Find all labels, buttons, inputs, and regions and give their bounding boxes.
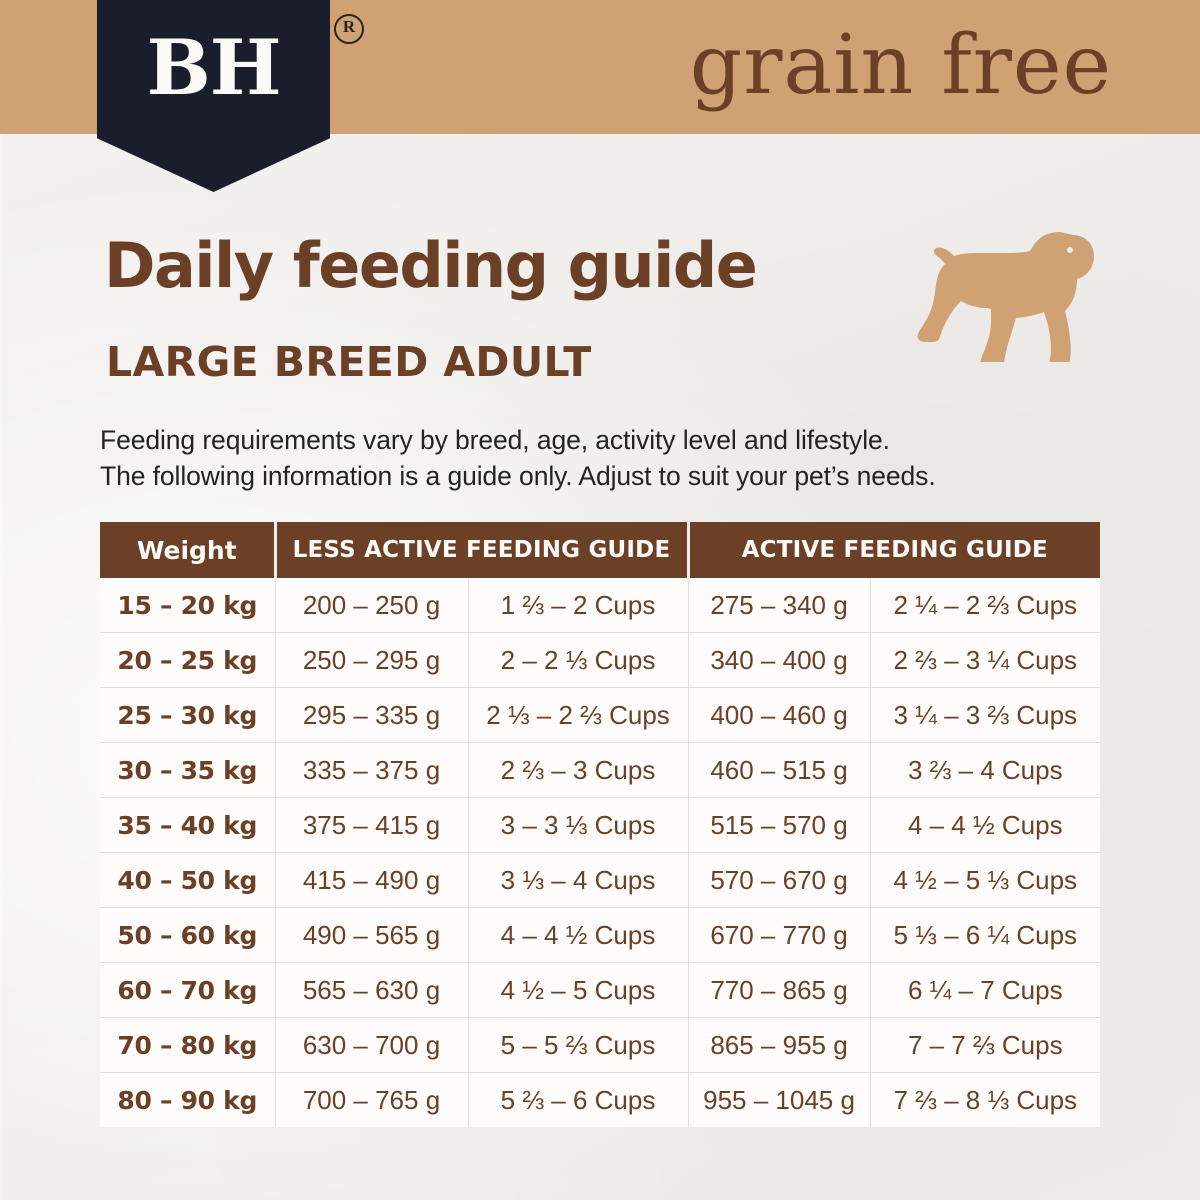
cell-active-grams: 670 – 770 g [688, 908, 870, 963]
registered-trademark-icon: R [334, 14, 364, 44]
table-row: 80 – 90 kg700 – 765 g5 ⅔ – 6 Cups955 – 1… [100, 1073, 1100, 1128]
cell-weight: 30 – 35 kg [100, 743, 275, 798]
cell-less-active-cups: 5 ⅔ – 6 Cups [468, 1073, 688, 1128]
table-row: 60 – 70 kg565 – 630 g4 ½ – 5 Cups770 – 8… [100, 963, 1100, 1018]
cell-less-active-cups: 1 ⅔ – 2 Cups [468, 578, 688, 633]
dog-silhouette-icon [913, 228, 1099, 362]
cell-active-grams: 275 – 340 g [688, 578, 870, 633]
column-header-weight: Weight [100, 522, 275, 578]
cell-less-active-grams: 375 – 415 g [275, 798, 468, 853]
cell-less-active-grams: 630 – 700 g [275, 1018, 468, 1073]
page-title: Daily feeding guide [104, 232, 756, 300]
cell-active-grams: 340 – 400 g [688, 633, 870, 688]
cell-weight: 35 – 40 kg [100, 798, 275, 853]
table-row: 20 – 25 kg250 – 295 g2 – 2 ⅓ Cups340 – 4… [100, 633, 1100, 688]
cell-less-active-cups: 2 – 2 ⅓ Cups [468, 633, 688, 688]
intro-line-1: Feeding requirements vary by breed, age,… [100, 422, 1120, 458]
table-row: 30 – 35 kg335 – 375 g2 ⅔ – 3 Cups460 – 5… [100, 743, 1100, 798]
table-header: Weight LESS ACTIVE FEEDING GUIDE ACTIVE … [100, 522, 1100, 578]
cell-weight: 15 – 20 kg [100, 578, 275, 633]
feeding-guide-page: grain free BH R Daily feeding guide LARG… [0, 0, 1200, 1200]
intro-paragraph: Feeding requirements vary by breed, age,… [100, 422, 1120, 494]
cell-less-active-cups: 2 ⅓ – 2 ⅔ Cups [468, 688, 688, 743]
cell-less-active-cups: 4 ½ – 5 Cups [468, 963, 688, 1018]
intro-line-2: The following information is a guide onl… [100, 458, 1120, 494]
cell-active-cups: 3 ¼ – 3 ⅔ Cups [870, 688, 1100, 743]
cell-active-cups: 3 ⅔ – 4 Cups [870, 743, 1100, 798]
cell-less-active-grams: 700 – 765 g [275, 1073, 468, 1128]
cell-active-grams: 865 – 955 g [688, 1018, 870, 1073]
feeding-guide-table: Weight LESS ACTIVE FEEDING GUIDE ACTIVE … [100, 522, 1100, 1127]
cell-active-grams: 400 – 460 g [688, 688, 870, 743]
cell-active-grams: 955 – 1045 g [688, 1073, 870, 1128]
cell-weight: 80 – 90 kg [100, 1073, 275, 1128]
cell-active-cups: 6 ¼ – 7 Cups [870, 963, 1100, 1018]
column-header-less-active: LESS ACTIVE FEEDING GUIDE [275, 522, 688, 578]
cell-active-grams: 515 – 570 g [688, 798, 870, 853]
cell-active-cups: 4 – 4 ½ Cups [870, 798, 1100, 853]
table-row: 40 – 50 kg415 – 490 g3 ⅓ – 4 Cups570 – 6… [100, 853, 1100, 908]
cell-less-active-cups: 3 ⅓ – 4 Cups [468, 853, 688, 908]
cell-active-grams: 770 – 865 g [688, 963, 870, 1018]
table-row: 25 – 30 kg295 – 335 g2 ⅓ – 2 ⅔ Cups400 –… [100, 688, 1100, 743]
cell-active-cups: 7 – 7 ⅔ Cups [870, 1018, 1100, 1073]
page-subtitle: LARGE BREED ADULT [106, 338, 592, 386]
cell-less-active-grams: 415 – 490 g [275, 853, 468, 908]
cell-active-grams: 460 – 515 g [688, 743, 870, 798]
table-row: 50 – 60 kg490 – 565 g4 – 4 ½ Cups670 – 7… [100, 908, 1100, 963]
cell-less-active-cups: 2 ⅔ – 3 Cups [468, 743, 688, 798]
cell-less-active-grams: 335 – 375 g [275, 743, 468, 798]
brand-logo-text: BH [97, 28, 330, 108]
brand-tagline: grain free [690, 14, 1112, 118]
cell-less-active-grams: 295 – 335 g [275, 688, 468, 743]
cell-less-active-cups: 3 – 3 ⅓ Cups [468, 798, 688, 853]
cell-less-active-grams: 200 – 250 g [275, 578, 468, 633]
column-header-active: ACTIVE FEEDING GUIDE [688, 522, 1100, 578]
table-row: 35 – 40 kg375 – 415 g3 – 3 ⅓ Cups515 – 5… [100, 798, 1100, 853]
cell-weight: 20 – 25 kg [100, 633, 275, 688]
cell-active-cups: 2 ⅔ – 3 ¼ Cups [870, 633, 1100, 688]
cell-weight: 50 – 60 kg [100, 908, 275, 963]
table-row: 70 – 80 kg630 – 700 g5 – 5 ⅔ Cups865 – 9… [100, 1018, 1100, 1073]
cell-less-active-grams: 565 – 630 g [275, 963, 468, 1018]
cell-active-cups: 4 ½ – 5 ⅓ Cups [870, 853, 1100, 908]
cell-active-cups: 2 ¼ – 2 ⅔ Cups [870, 578, 1100, 633]
cell-less-active-cups: 5 – 5 ⅔ Cups [468, 1018, 688, 1073]
table-body: 15 – 20 kg200 – 250 g1 ⅔ – 2 Cups275 – 3… [100, 578, 1100, 1127]
cell-active-cups: 5 ⅓ – 6 ¼ Cups [870, 908, 1100, 963]
table-header-row: Weight LESS ACTIVE FEEDING GUIDE ACTIVE … [100, 522, 1100, 578]
cell-weight: 40 – 50 kg [100, 853, 275, 908]
cell-less-active-grams: 490 – 565 g [275, 908, 468, 963]
cell-weight: 25 – 30 kg [100, 688, 275, 743]
cell-less-active-cups: 4 – 4 ½ Cups [468, 908, 688, 963]
table-row: 15 – 20 kg200 – 250 g1 ⅔ – 2 Cups275 – 3… [100, 578, 1100, 633]
cell-active-cups: 7 ⅔ – 8 ⅓ Cups [870, 1073, 1100, 1128]
cell-less-active-grams: 250 – 295 g [275, 633, 468, 688]
cell-weight: 60 – 70 kg [100, 963, 275, 1018]
cell-weight: 70 – 80 kg [100, 1018, 275, 1073]
brand-logo-shield: BH [97, 0, 330, 192]
cell-active-grams: 570 – 670 g [688, 853, 870, 908]
